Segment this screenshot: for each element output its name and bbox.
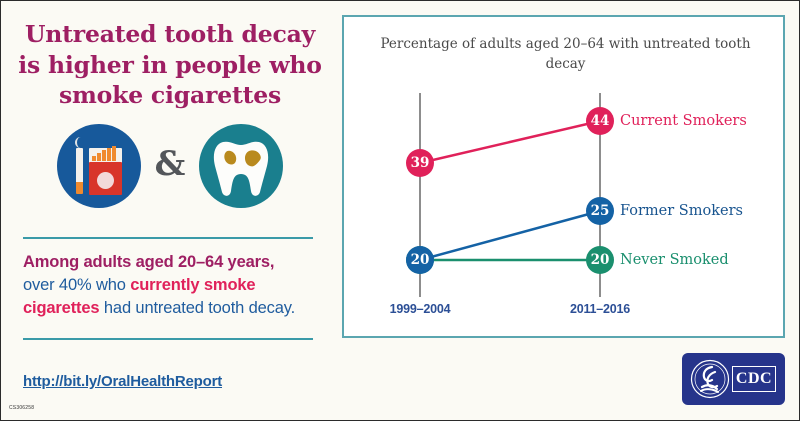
divider-bottom xyxy=(23,338,313,340)
divider-top xyxy=(23,237,313,239)
data-point-current-1999[interactable]: 39 xyxy=(406,149,434,177)
smoke-wisp-icon xyxy=(75,137,86,148)
x-tick-label-1999-2004: 1999–2004 xyxy=(390,302,451,316)
legend-former-smokers: Former Smokers xyxy=(620,203,743,219)
icon-row: & xyxy=(15,119,325,213)
stat-line-2b: currently smoke xyxy=(130,276,255,294)
document-code: CS306258 xyxy=(9,405,34,411)
cdc-wordmark: CDC xyxy=(732,366,776,392)
cigarette-filter xyxy=(76,182,83,194)
data-point-former-1999[interactable]: 20 xyxy=(406,246,434,274)
stat-line-1: Among adults aged 20–64 years, xyxy=(23,253,274,271)
pack-emblem xyxy=(97,172,114,189)
stat-line-3b: had untreated tooth decay. xyxy=(99,299,295,317)
left-content-column: Untreated tooth decay is higher in peopl… xyxy=(1,1,336,421)
data-point-current-2011[interactable]: 44 xyxy=(586,107,614,135)
x-tick-label-2011-2016: 2011–2016 xyxy=(570,302,630,316)
stat-line-2a: over 40% who xyxy=(23,276,130,294)
data-point-never-2011[interactable]: 20 xyxy=(586,246,614,274)
decayed-tooth-icon xyxy=(199,124,283,208)
data-point-former-2011[interactable]: 25 xyxy=(586,197,614,225)
page-title: Untreated tooth decay is higher in peopl… xyxy=(15,19,325,111)
chart-panel: Percentage of adults aged 20–64 with unt… xyxy=(342,15,785,338)
pack-cigarettes xyxy=(92,146,119,161)
ampersand-glyph: & xyxy=(155,147,186,185)
infographic-canvas: Untreated tooth decay is higher in peopl… xyxy=(0,0,800,421)
stat-line-3a: cigarettes xyxy=(23,299,99,317)
cigarette-pack-icon xyxy=(57,124,141,208)
legend-never-smoked: Never Smoked xyxy=(620,252,729,268)
legend-current-smokers: Current Smokers xyxy=(620,113,747,129)
cdc-logo: CDC xyxy=(682,353,785,405)
stat-callout: Among adults aged 20–64 years, over 40% … xyxy=(23,251,323,319)
hhs-seal-icon xyxy=(690,358,730,400)
report-url-link[interactable]: http://bit.ly/OralHealthReport xyxy=(23,373,222,390)
